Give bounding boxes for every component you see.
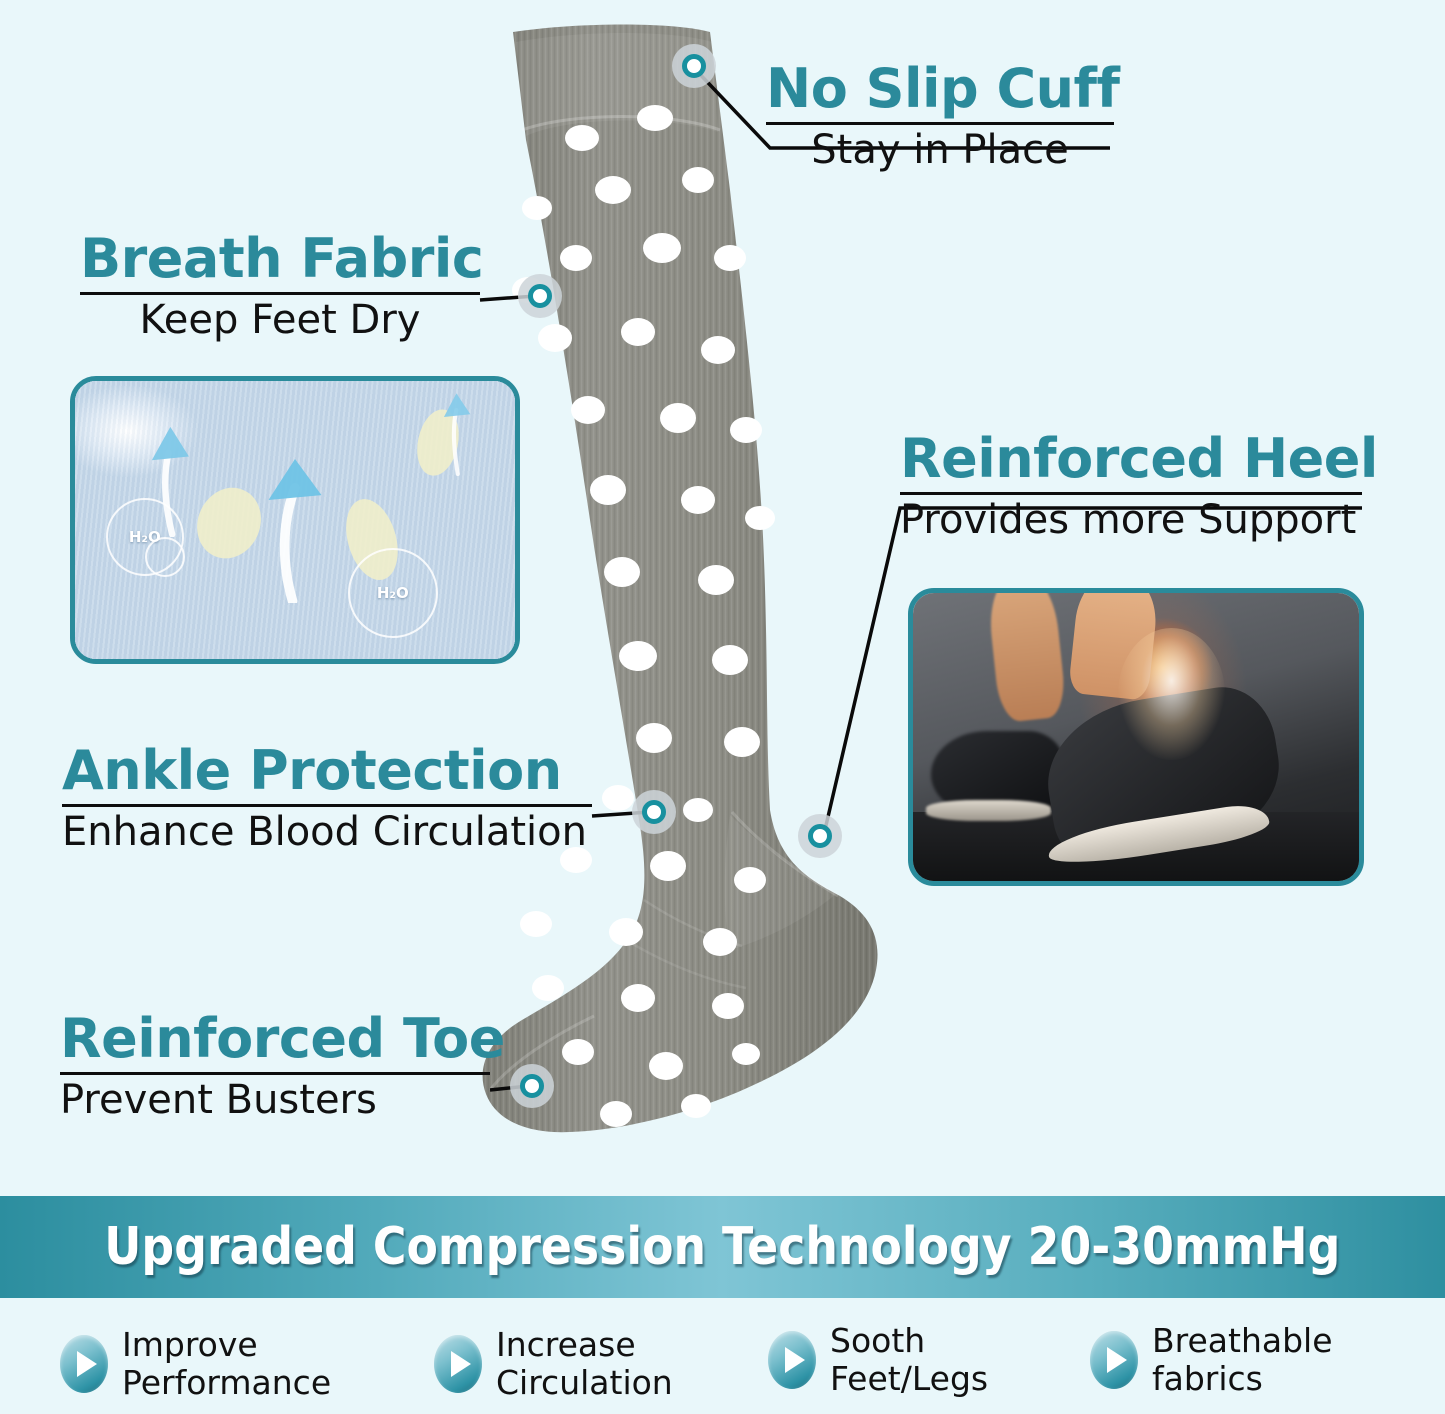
callout-rule bbox=[80, 292, 480, 295]
callout-no-slip-cuff: No Slip Cuff Stay in Place bbox=[766, 62, 1114, 171]
callout-subtitle: Enhance Blood Circulation bbox=[62, 811, 592, 853]
callout-rule bbox=[60, 1072, 490, 1075]
feature-item-improve-performance: Improve Performance bbox=[60, 1326, 331, 1403]
feature-item-increase-circulation: Increase Circulation bbox=[434, 1326, 673, 1403]
feature-row: Improve Performance Increase Circulation… bbox=[0, 1320, 1445, 1414]
ankle-glow-highlight bbox=[1118, 628, 1225, 760]
callout-rule bbox=[900, 492, 1362, 495]
callout-reinforced-heel: Reinforced Heel Provides more Support bbox=[900, 432, 1362, 541]
marker-heel-icon[interactable] bbox=[798, 814, 842, 858]
h2o-bubble-label: H₂O bbox=[348, 548, 438, 638]
feature-item-sooth-feet-legs: Sooth Feet/Legs bbox=[768, 1322, 988, 1399]
callout-title: Ankle Protection bbox=[62, 744, 592, 798]
callout-subtitle: Keep Feet Dry bbox=[80, 299, 480, 341]
rear-shoe-sole bbox=[926, 800, 1051, 820]
callout-subtitle: Stay in Place bbox=[766, 129, 1114, 171]
play-triangle-icon bbox=[1090, 1331, 1138, 1389]
callout-reinforced-toe: Reinforced Toe Prevent Busters bbox=[60, 1012, 490, 1121]
callout-subtitle: Provides more Support bbox=[900, 499, 1362, 541]
callout-title: Reinforced Toe bbox=[60, 1012, 490, 1066]
callout-title: Reinforced Heel bbox=[900, 432, 1362, 486]
callout-title: No Slip Cuff bbox=[766, 62, 1114, 116]
compression-banner: Upgraded Compression Technology 20-30mmH… bbox=[0, 1196, 1445, 1298]
marker-toe-icon[interactable] bbox=[510, 1064, 554, 1108]
rear-leg bbox=[986, 588, 1068, 723]
inset-fabric-closeup: H₂O H₂O bbox=[70, 376, 520, 664]
play-triangle-icon bbox=[768, 1331, 816, 1389]
infographic-canvas: No Slip Cuff Stay in Place Breath Fabric… bbox=[0, 0, 1445, 1414]
feature-label: Breathable fabrics bbox=[1152, 1322, 1333, 1399]
vapor-arrow-icon bbox=[251, 459, 339, 604]
feature-item-breathable-fabrics: Breathable fabrics bbox=[1090, 1322, 1333, 1399]
marker-cuff-icon[interactable] bbox=[672, 44, 716, 88]
heel-photo bbox=[913, 593, 1359, 881]
h2o-bubble-small bbox=[145, 537, 185, 577]
inset-heel-xray bbox=[908, 588, 1364, 886]
callout-breath-fabric: Breath Fabric Keep Feet Dry bbox=[80, 232, 480, 341]
callout-rule bbox=[766, 122, 1114, 125]
marker-ankle-icon[interactable] bbox=[632, 790, 676, 834]
callout-subtitle: Prevent Busters bbox=[60, 1079, 490, 1121]
callout-title: Breath Fabric bbox=[80, 232, 480, 286]
play-triangle-icon bbox=[60, 1335, 108, 1393]
feature-label: Improve Performance bbox=[122, 1326, 331, 1403]
feature-label: Increase Circulation bbox=[496, 1326, 673, 1403]
feature-label: Sooth Feet/Legs bbox=[830, 1322, 988, 1399]
callout-ankle-protection: Ankle Protection Enhance Blood Circulati… bbox=[62, 744, 592, 853]
callout-rule bbox=[62, 804, 592, 807]
banner-text: Upgraded Compression Technology 20-30mmH… bbox=[104, 1217, 1340, 1277]
play-triangle-icon bbox=[434, 1335, 482, 1393]
vapor-arrow-icon bbox=[427, 392, 489, 475]
marker-fabric-icon[interactable] bbox=[518, 274, 562, 318]
